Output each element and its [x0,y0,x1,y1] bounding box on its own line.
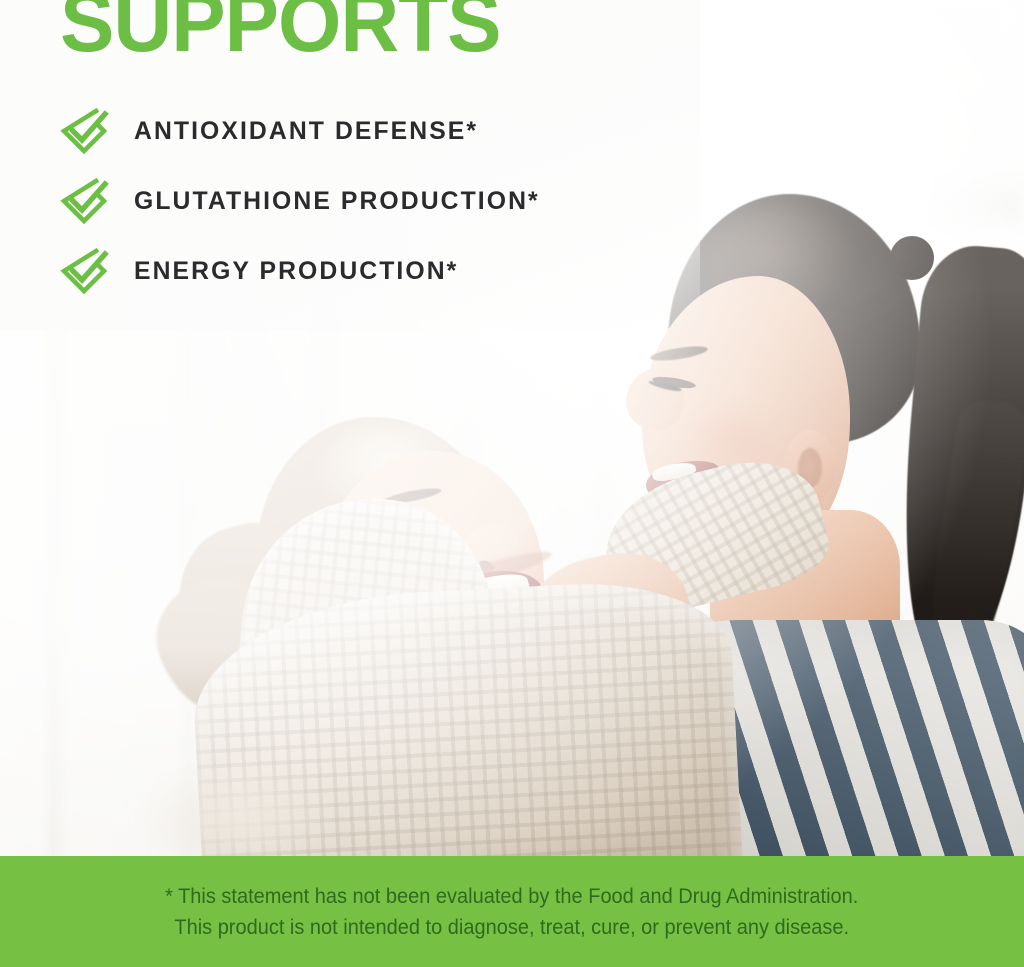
green-diamond-check-icon [58,245,110,297]
disclaimer-line-2: This product is not intended to diagnose… [175,915,850,939]
benefit-label: ANTIOXIDANT DEFENSE* [134,117,478,146]
green-diamond-check-icon [58,105,110,157]
green-diamond-check-icon [58,175,110,227]
page-title: SUPPORTS [60,0,500,61]
disclaimer-line-1: * This statement has not been evaluated … [165,884,858,908]
benefit-label: ENERGY PRODUCTION* [134,257,458,286]
fda-disclaimer-banner: * This statement has not been evaluated … [0,856,1024,967]
disclaimer-text: * This statement has not been evaluated … [165,881,858,942]
benefits-list: ANTIOXIDANT DEFENSE* GLUTATHIONE PRODUCT… [58,96,544,306]
mother-hair-tie [890,236,934,280]
benefit-item-antioxidant-defense: ANTIOXIDANT DEFENSE* [58,96,544,166]
benefit-item-energy-production: ENERGY PRODUCTION* [58,236,544,306]
product-benefits-panel: SUPPORTS ANTIOXIDANT DEFENSE* GLUTATHION… [0,0,1024,967]
benefit-item-glutathione-production: GLUTATHIONE PRODUCTION* [58,166,544,236]
benefit-label: GLUTATHIONE PRODUCTION* [134,187,540,216]
